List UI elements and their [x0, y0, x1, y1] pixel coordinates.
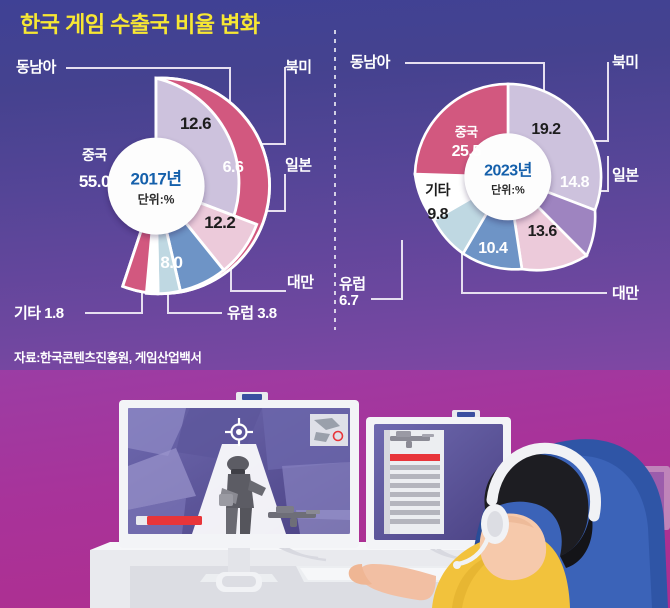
page-title: 한국 게임 수출국 비율 변화	[20, 7, 260, 39]
source-note: 자료:한국콘텐츠진흥원, 게임산업백서	[14, 347, 202, 366]
value-china-name-2023: 중국	[455, 122, 478, 141]
value-europe-2017: 8.0	[160, 253, 182, 273]
health-bar	[136, 516, 202, 525]
callout-label-northamerica-2023: 북미	[612, 51, 639, 72]
leader-line-europe-v-2023	[401, 240, 403, 300]
callout-label-europe-2017: 유럽 3.8	[227, 302, 277, 323]
callout-label-europe-value-2023: 6.7	[339, 293, 366, 309]
hub-unit-2023: 단위:%	[491, 181, 525, 197]
value-northamerica-2017: 12.6	[180, 114, 211, 134]
infographic-root: 한국 게임 수출국 비율 변화 동남아 북미 일본 대만 유럽 3.8 기타 1…	[0, 0, 670, 608]
hub-year-2023: 2023년	[484, 156, 532, 180]
callout-label-europe-name-2023: 유럽	[339, 277, 366, 293]
callout-label-taiwan-2023: 대만	[612, 282, 639, 303]
leader-line-other-h	[85, 312, 142, 314]
value-japan-2023: 14.8	[560, 174, 589, 192]
callout-label-sea-2017: 동남아	[16, 56, 56, 77]
value-china-name-2017: 중국	[82, 145, 107, 165]
callout-label-sea-2023: 동남아	[350, 51, 390, 72]
leader-line-japan-v	[284, 174, 286, 212]
donut-chart-2023: 2023년 단위:% 중국 25.5 19.2 14.8 13.6 10.4 기…	[413, 82, 603, 272]
mouse	[216, 572, 262, 592]
callout-label-japan-2017: 일본	[285, 154, 312, 175]
value-china-2017: 55.0	[79, 172, 110, 192]
callout-label-japan-2023: 일본	[612, 164, 639, 185]
callout-label-other-2017: 기타 1.8	[14, 302, 64, 323]
value-other-name-2023: 기타	[425, 180, 450, 200]
value-taiwan-2023: 13.6	[528, 223, 557, 241]
value-japan-2017: 6.6	[223, 159, 244, 177]
value-europe-2023: 10.4	[478, 240, 507, 258]
leader-line-taiwan-h-2023	[461, 292, 607, 294]
inventory-row-selected	[388, 454, 440, 461]
value-china-2023: 25.5	[452, 143, 481, 161]
leader-line-northamerica-v	[284, 67, 286, 145]
value-other-2023: 9.8	[427, 206, 448, 224]
leader-line-northamerica-v-2023	[607, 62, 609, 142]
leader-line-japan-v-2023	[607, 156, 609, 192]
callout-label-europe-2023: 유럽 6.7	[339, 277, 366, 309]
leader-line-europe-h-2023	[371, 298, 403, 300]
callout-label-northamerica-2017: 북미	[285, 56, 312, 77]
value-northamerica-2023: 19.2	[531, 121, 560, 139]
donut-chart-2017: 2017년 단위:% 중국 55.0 12.6 6.6 12.2 8.0	[46, 76, 266, 296]
leader-line-sea-h-2023	[405, 62, 545, 64]
callout-label-taiwan-2017: 대만	[287, 271, 314, 292]
donut-hub-2017: 2017년 단위:%	[108, 138, 205, 235]
chart-panel-2017: 동남아 북미 일본 대만 유럽 3.8 기타 1.8	[0, 44, 335, 334]
illustration-gamer-at-dual-monitors	[0, 370, 670, 608]
game-scene	[128, 408, 350, 534]
hub-unit-2017: 단위:%	[138, 190, 175, 207]
value-taiwan-2017: 12.2	[204, 213, 235, 233]
chart-panel-2023: 동남아 북미 일본 대만 유럽 6.7	[335, 44, 670, 334]
leader-line-europe-h	[167, 312, 222, 314]
leader-line-sea-h	[66, 67, 231, 69]
hub-year-2017: 2017년	[131, 164, 182, 189]
minimap	[310, 414, 348, 446]
